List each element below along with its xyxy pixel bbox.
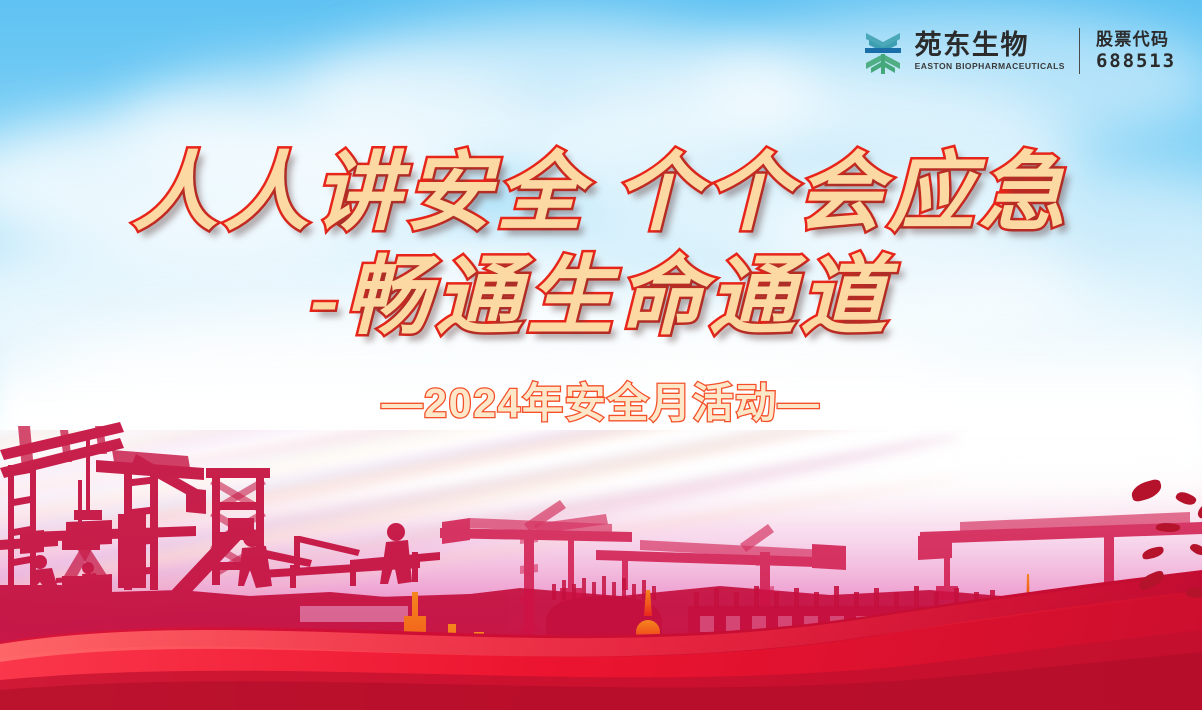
stock-code-label: 股票代码 <box>1096 29 1176 50</box>
stock-info-block: 股票代码 688513 <box>1096 29 1176 73</box>
brand-name-cn: 苑东生物 <box>915 31 1065 59</box>
safety-poster: 人人讲安全 个个会应急 -畅通生命通道 —2024年安全月活动— 苑东生物 EA… <box>0 0 1202 710</box>
brand-name-en: EASTON BIOPHARMACEUTICALS <box>915 61 1065 71</box>
stock-code-value: 688513 <box>1096 50 1176 73</box>
pine-tree-logo-icon <box>863 28 903 74</box>
brand-divider <box>1079 28 1080 74</box>
brand-lockup: 苑东生物 EASTON BIOPHARMACEUTICALS 股票代码 6885… <box>863 28 1176 74</box>
brand-name-block: 苑东生物 EASTON BIOPHARMACEUTICALS <box>915 31 1065 71</box>
red-silk-ribbon-layer <box>0 540 1202 710</box>
